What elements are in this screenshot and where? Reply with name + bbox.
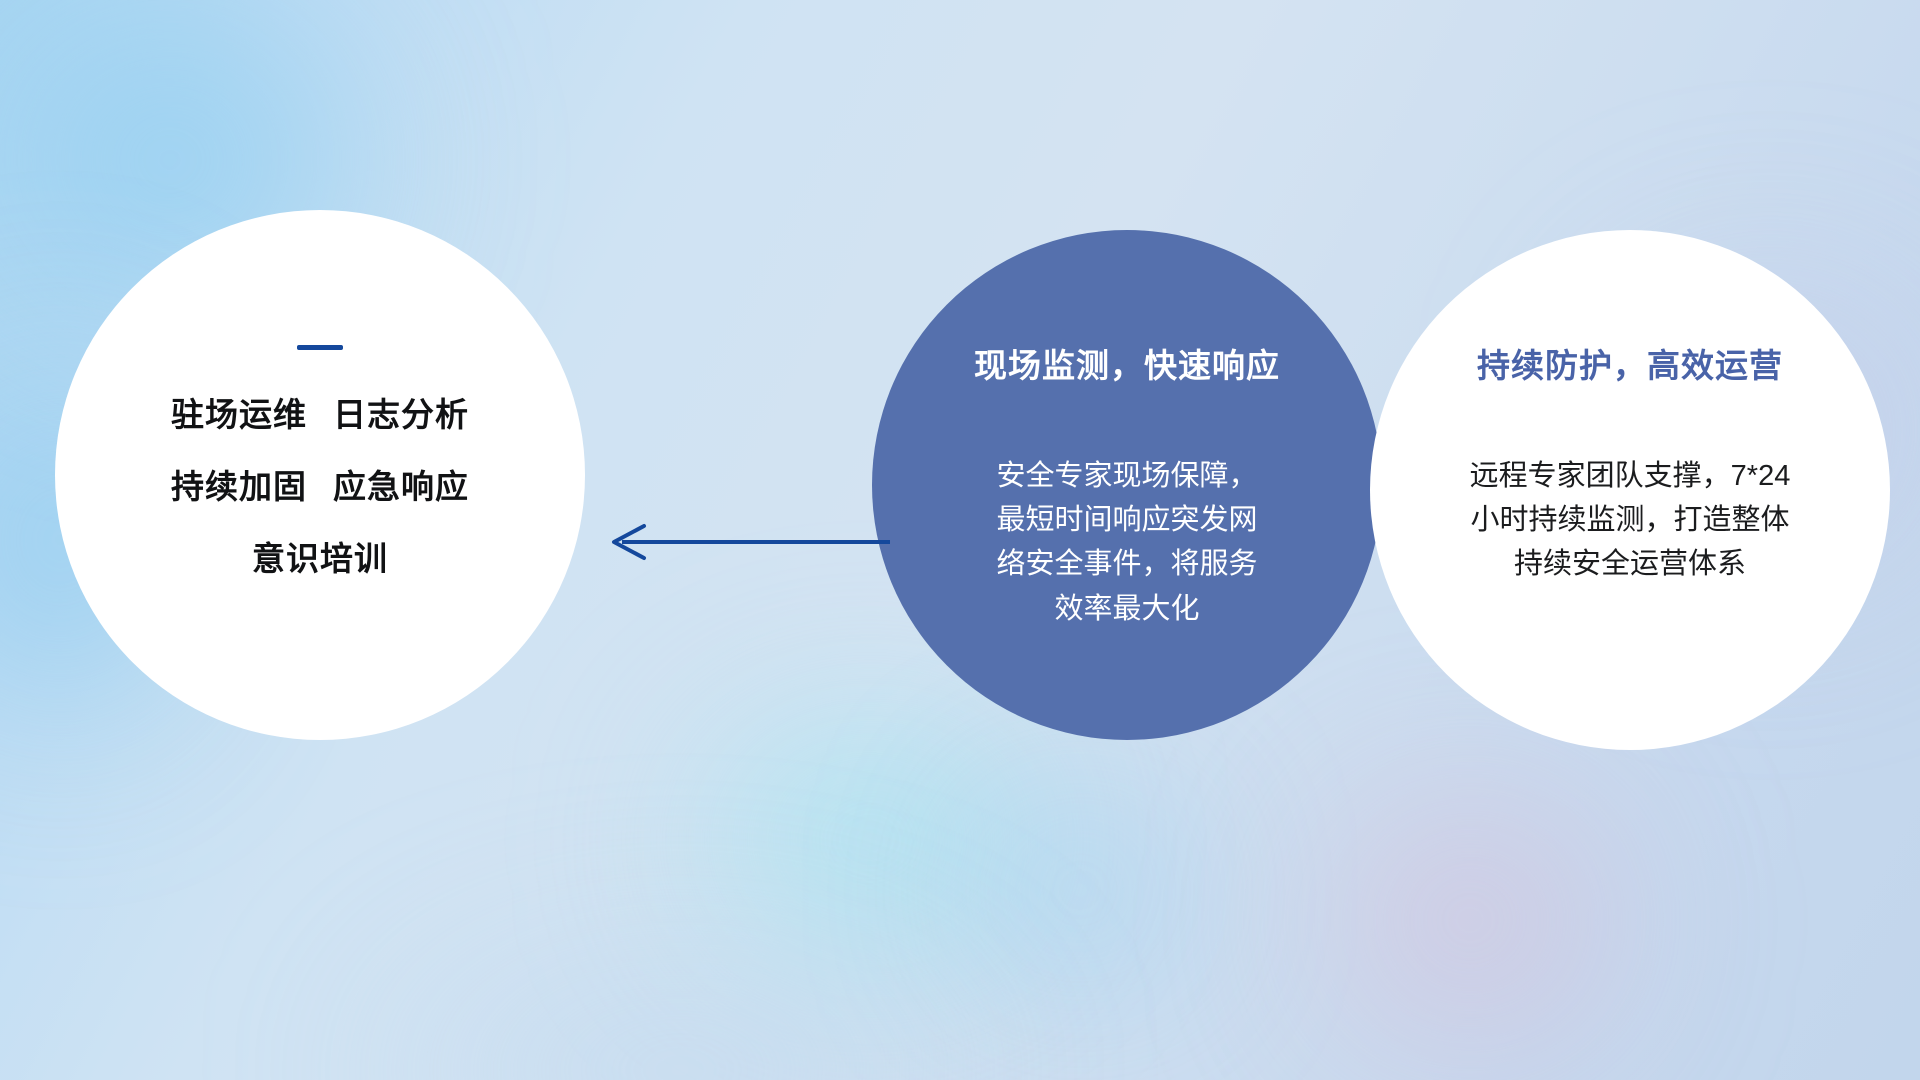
onsite-monitoring-body: 安全专家现场保障， 最短时间响应突发网 络安全事件，将服务 效率最大化 <box>962 454 1292 630</box>
capability-row-2: 持续加固应急响应 <box>171 470 469 503</box>
continuous-protection-circle[interactable]: 持续防护，高效运营 远程专家团队支撑，7*24 小时持续监测，打造整体 持续安全… <box>1370 230 1890 750</box>
continuous-protection-body: 远程专家团队支撑，7*24 小时持续监测，打造整体 持续安全运营体系 <box>1465 454 1795 586</box>
capability-item-zhuchangyunwei: 驻场运维 <box>171 396 307 433</box>
capability-row-3: 意识培训 <box>252 542 388 575</box>
slide-canvas: 驻场运维日志分析 持续加固应急响应 意识培训 现场监测，快速响应 安全专家现场保… <box>0 0 1920 1080</box>
capability-item-yishipeixun: 意识培训 <box>252 540 388 577</box>
onsite-monitoring-title: 现场监测，快速响应 <box>974 348 1280 384</box>
capability-circle[interactable]: 驻场运维日志分析 持续加固应急响应 意识培训 <box>55 210 585 740</box>
onsite-monitoring-circle[interactable]: 现场监测，快速响应 安全专家现场保障， 最短时间响应突发网 络安全事件，将服务 … <box>872 230 1382 740</box>
capability-item-chixujiagu: 持续加固 <box>171 468 307 505</box>
capability-item-yingjixiangying: 应急响应 <box>333 468 469 505</box>
flow-arrow-left <box>600 512 900 572</box>
divider-rule <box>297 345 343 350</box>
continuous-protection-title: 持续防护，高效运营 <box>1477 348 1783 384</box>
capability-item-rizhifenxi: 日志分析 <box>333 396 469 433</box>
capability-row-1: 驻场运维日志分析 <box>171 398 469 431</box>
